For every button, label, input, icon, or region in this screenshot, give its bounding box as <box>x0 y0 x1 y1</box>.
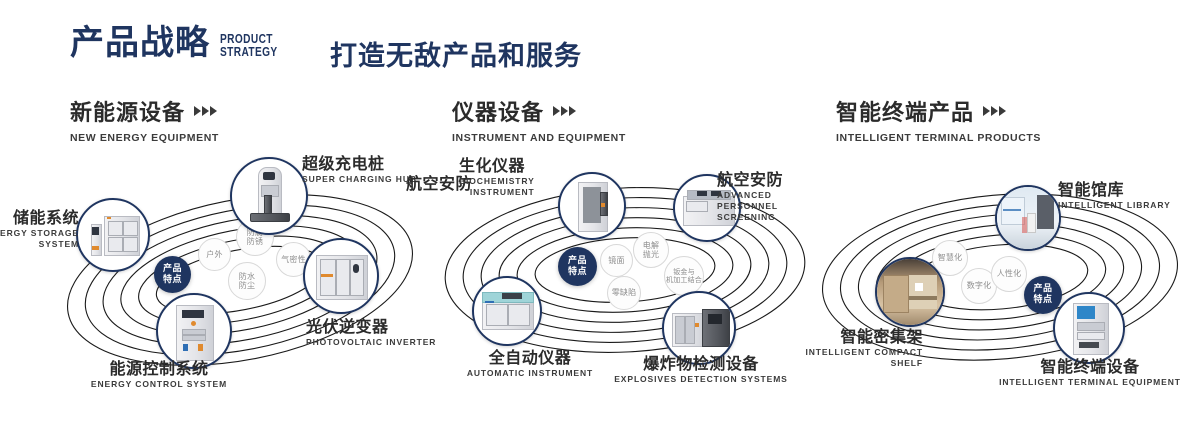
section-head-terminal: 智能终端产品 INTELLIGENT TERMINAL PRODUCTS <box>836 95 1041 144</box>
energy-storage-illustration <box>78 200 148 270</box>
section-head-new-energy: 新能源设备 NEW ENERGY EQUIPMENT <box>70 95 219 144</box>
section-title-en-new-energy: NEW ENERGY EQUIPMENT <box>70 132 219 144</box>
security-gate-illustration <box>560 174 624 238</box>
label-compact-shelf: 智能密集架 INTELLIGENT COMPACT SHELF <box>795 327 923 369</box>
feature-bubble-humanized: 人性化 <box>991 256 1027 292</box>
feature-bubble-electropolishing: 电解 抛光 <box>633 232 669 268</box>
label-photovoltaic-inverter: 光伏逆变器 PHOTOVOLTAIC INVERTER <box>306 317 436 348</box>
node-photo-biochemistry-instrument[interactable] <box>558 172 626 240</box>
label-energy-storage: 储能系统 ENERGY STORAGE SYSTEM <box>0 208 79 250</box>
section-title-en-terminal: INTELLIGENT TERMINAL PRODUCTS <box>836 132 1041 144</box>
explosives-detection-illustration <box>664 293 734 363</box>
section-title-en-instrument: INSTRUMENT AND EQUIPMENT <box>452 132 626 144</box>
core-bubble-instrument: 产品特点 <box>558 247 597 286</box>
label-terminal-equipment: 智能终端设备 INTELLIGENT TERMINAL EQUIPMENT <box>980 357 1200 388</box>
section-title-cn-terminal: 智能终端产品 <box>836 95 974 127</box>
chevron-right-icon <box>553 106 576 116</box>
node-photo-compact-shelf[interactable] <box>875 257 945 327</box>
chevron-right-icon <box>983 106 1006 116</box>
section-title-cn-new-energy: 新能源设备 <box>70 95 185 127</box>
node-photo-energy-storage[interactable] <box>76 198 150 272</box>
cluster-instrument: 产品特点 镜面 电解 抛光 零缺陷 钣金与 机加工结合 <box>425 152 825 402</box>
label-biochemistry-instrument: 生化仪器 BIOCHEMISTRY INSTRUMENT <box>459 156 535 198</box>
node-photo-photovoltaic-inverter[interactable] <box>303 238 379 314</box>
charging-hub-illustration <box>232 159 306 233</box>
feature-bubble-waterproof: 防水 防尘 <box>228 262 266 300</box>
terminal-kiosk-illustration <box>1055 294 1123 362</box>
page-title: 产品战略 PRODUCT STRATEGY <box>70 26 294 60</box>
compact-shelf-illustration <box>877 259 943 325</box>
cluster-terminal: 智慧化 数字化 人性化 产品特点 <box>805 152 1200 402</box>
library-illustration <box>997 187 1059 249</box>
inverter-illustration <box>305 240 377 312</box>
node-photo-super-charging-hub[interactable] <box>230 157 308 235</box>
feature-bubble-mirror: 镜面 <box>600 244 633 277</box>
page-title-en-line2: STRATEGY <box>220 45 278 58</box>
control-system-illustration <box>158 295 230 367</box>
label-energy-control-system: 能源控制系统 ENERGY CONTROL SYSTEM <box>49 359 269 390</box>
section-title-cn-instrument: 仪器设备 <box>452 95 544 127</box>
feature-bubble-sheetmetal-machining: 钣金与 机加工结合 <box>664 256 704 296</box>
node-photo-automatic-instrument[interactable] <box>472 276 542 346</box>
infographic-canvas: 产品战略 PRODUCT STRATEGY 打造无敌产品和服务 新能源设备 NE… <box>0 0 1200 422</box>
label-explosives-detection: 爆炸物检测设备 EXPLOSIVES DETECTION SYSTEMS <box>591 354 811 385</box>
page-title-en: PRODUCT STRATEGY <box>220 32 278 58</box>
cluster-new-energy: 产品特点 户外 防腐 防锈 防水 防尘 气密性 <box>40 152 440 402</box>
node-photo-terminal-equipment[interactable] <box>1053 292 1125 364</box>
label-super-charging-hub: 超级充电桩 SUPER CHARGING HUB <box>302 154 417 185</box>
automatic-instrument-illustration <box>474 278 540 344</box>
feature-bubble-zero-defect: 零缺陷 <box>607 276 641 310</box>
node-photo-intelligent-library[interactable] <box>995 185 1061 251</box>
feature-bubble-outdoor: 户外 <box>198 238 231 271</box>
chevron-right-icon <box>194 106 217 116</box>
page-title-cn: 产品战略 <box>70 26 210 60</box>
core-bubble-new-energy: 产品特点 <box>154 256 191 293</box>
node-photo-energy-control-system[interactable] <box>156 293 232 369</box>
section-head-instrument: 仪器设备 INSTRUMENT AND EQUIPMENT <box>452 95 626 144</box>
page-subtitle: 打造无敌产品和服务 <box>330 34 582 73</box>
label-intelligent-library: 智能馆库 INTELLIGENT LIBRARY <box>1058 180 1171 211</box>
